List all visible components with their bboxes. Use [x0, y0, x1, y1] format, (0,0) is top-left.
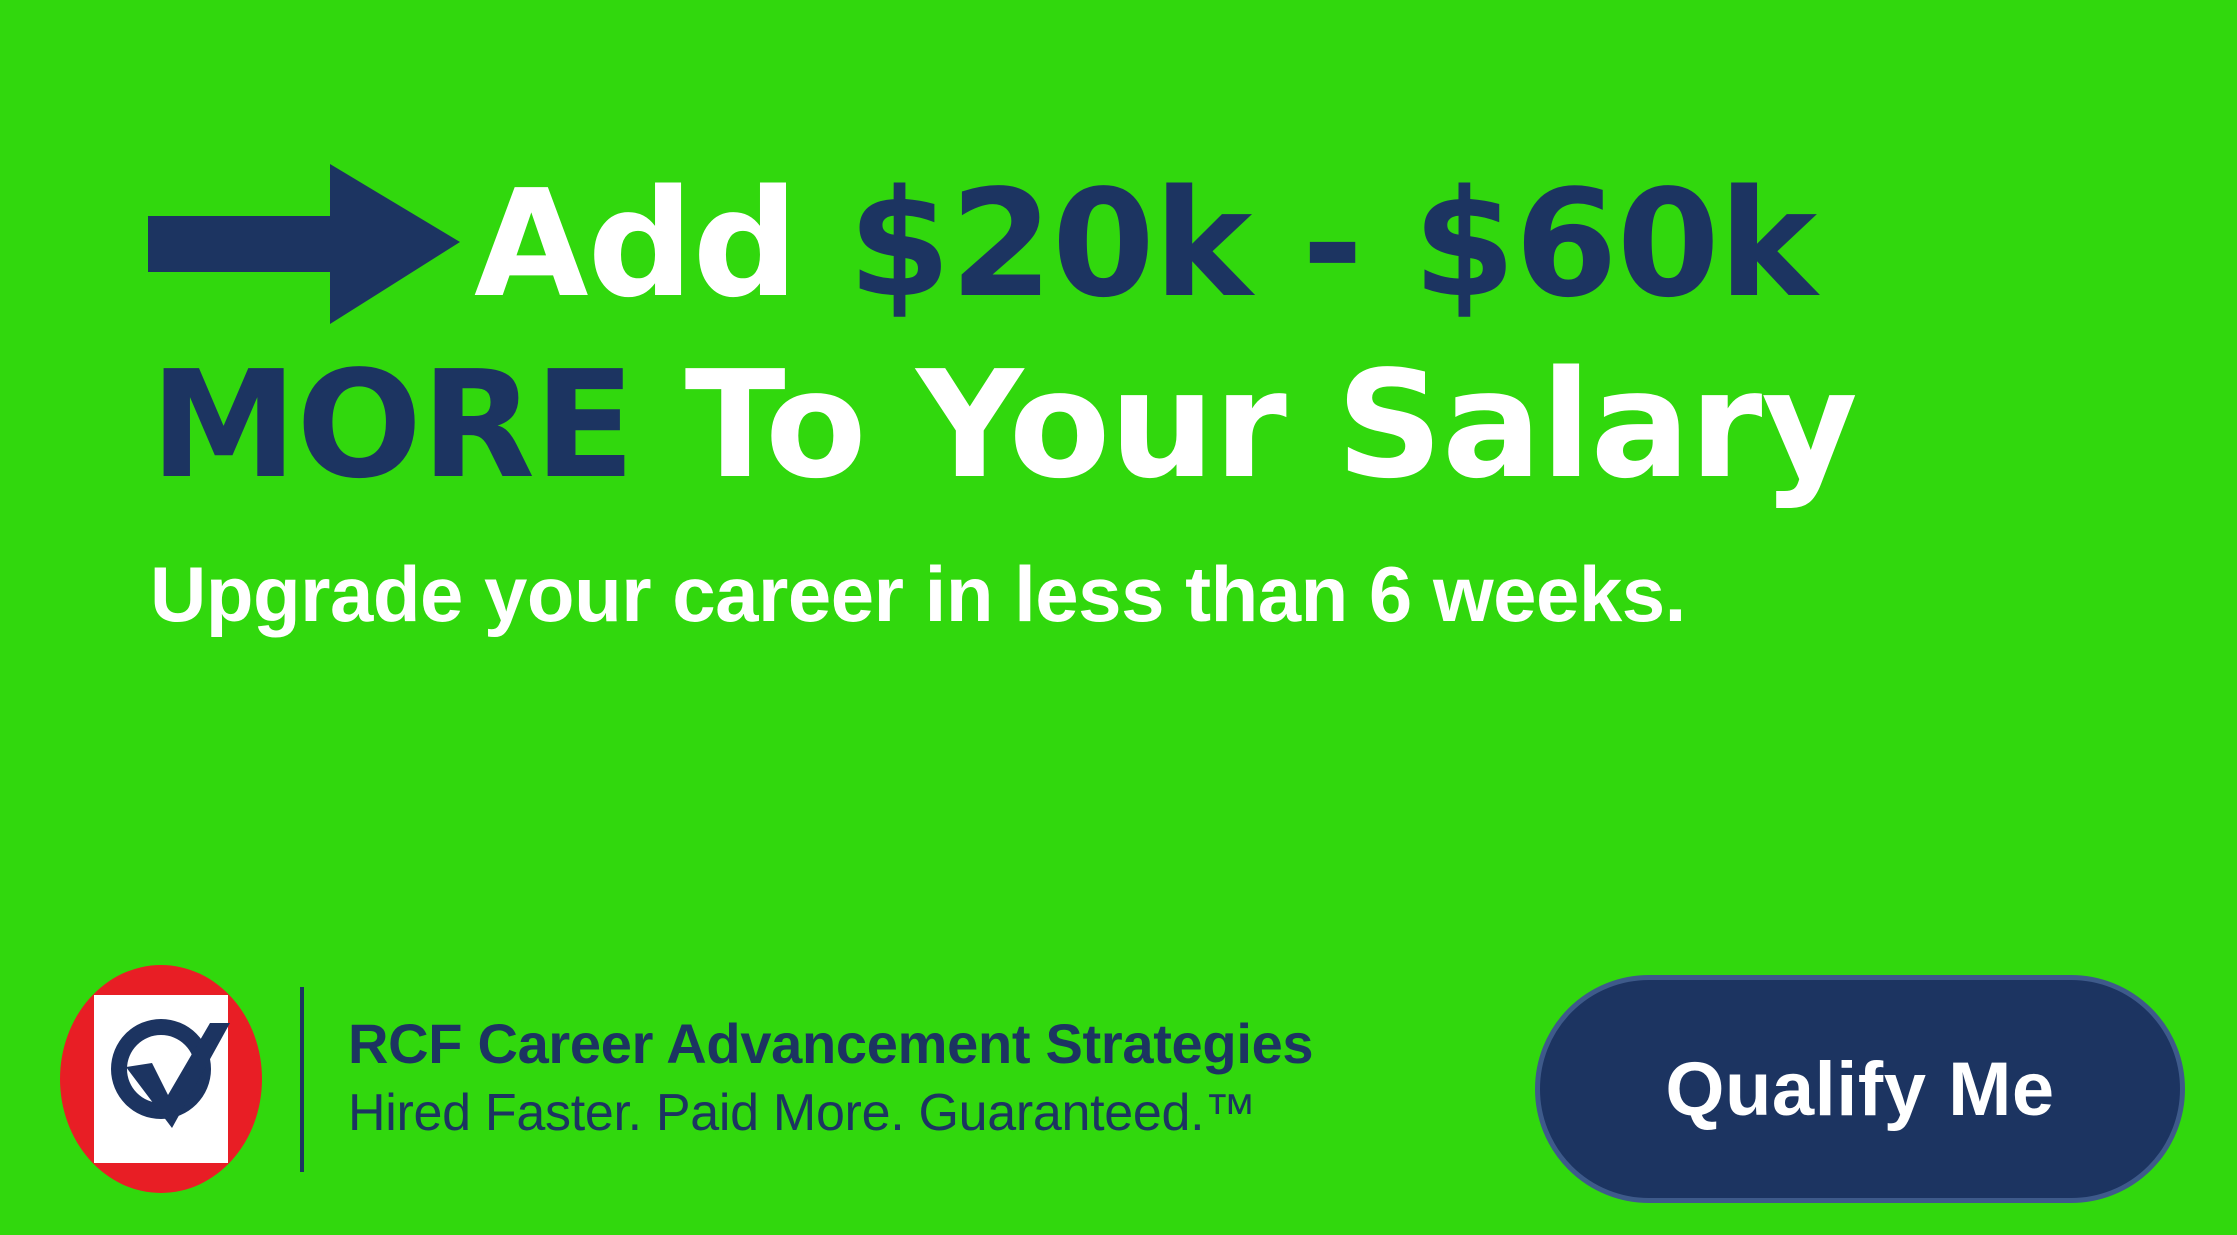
brand-divider — [300, 987, 304, 1172]
checkmark-circle-logo-icon — [60, 965, 262, 1193]
subheadline: Upgrade your career in less than 6 weeks… — [150, 555, 1686, 633]
headline-text-line-1: Add $20k - $60k — [474, 170, 1816, 318]
headline-line-2: MORE To Your Salary — [150, 351, 2128, 499]
headline-block: Add $20k - $60k MORE To Your Salary — [148, 155, 2128, 499]
headline-add-text: Add — [474, 158, 848, 330]
headline-salary-text: To Your Salary — [685, 339, 1857, 511]
brand-name: RCF Career Advancement Strategies — [348, 1015, 1313, 1074]
brand-group: RCF Career Advancement Strategies Hired … — [60, 965, 1313, 1193]
footer-bar: RCF Career Advancement Strategies Hired … — [0, 955, 2237, 1235]
arrow-right-icon — [148, 164, 460, 324]
headline-line-1: Add $20k - $60k — [148, 155, 2128, 333]
headline-more-text: MORE — [150, 339, 685, 511]
brand-text: RCF Career Advancement Strategies Hired … — [348, 1015, 1313, 1144]
qualify-me-button-label: Qualify Me — [1665, 1046, 2054, 1133]
advertisement-banner: Add $20k - $60k MORE To Your Salary Upgr… — [0, 0, 2237, 1235]
brand-tagline: Hired Faster. Paid More. Guaranteed.™ — [348, 1084, 1313, 1144]
headline-amount-text: $20k - $60k — [848, 158, 1816, 330]
qualify-me-button[interactable]: Qualify Me — [1535, 975, 2185, 1203]
